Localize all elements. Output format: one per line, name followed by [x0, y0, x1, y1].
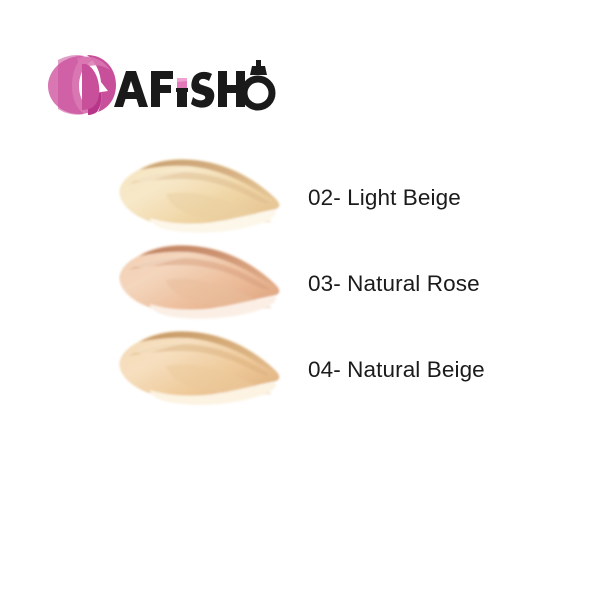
swatch-art-svg: [104, 150, 294, 246]
product-shade-chart: 02- Light Beige: [0, 0, 600, 600]
swatch-04-natural-beige: [104, 322, 294, 418]
shade-label-03: 03- Natural Rose: [308, 264, 480, 304]
swatch-art-svg: [104, 322, 294, 418]
brand-wordmark-2: [191, 71, 245, 108]
shade-row: 03- Natural Rose: [0, 236, 600, 332]
shade-label-04: 04- Natural Beige: [308, 350, 485, 390]
lipstick-icon: [176, 78, 188, 107]
shade-label-02: 02- Light Beige: [308, 178, 461, 218]
brand-o-letter: [244, 79, 272, 107]
nail-polish-bottle-icon: [250, 60, 267, 75]
shade-row: 02- Light Beige: [0, 150, 600, 246]
brand-logo: [46, 52, 276, 118]
swatch-03-natural-rose: [104, 236, 294, 332]
swatch-02-light-beige: [104, 150, 294, 246]
brand-logo-svg: [46, 52, 276, 118]
swatch-art-svg: [104, 236, 294, 332]
brand-wordmark: [114, 71, 173, 107]
shade-row: 04- Natural Beige: [0, 322, 600, 418]
